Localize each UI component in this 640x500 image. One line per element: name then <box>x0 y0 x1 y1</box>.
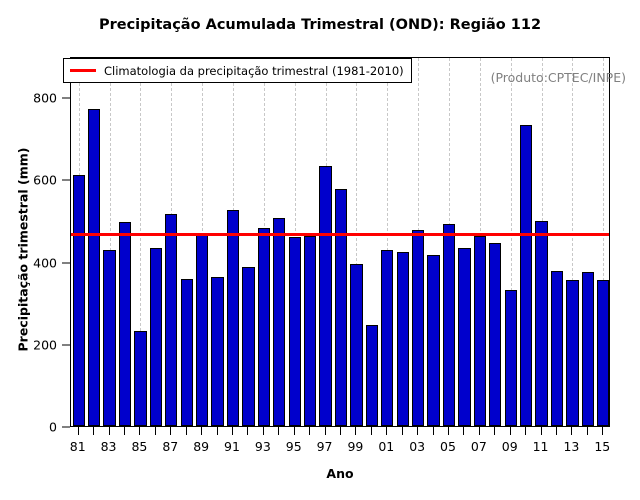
y-axis-title: Precipitação trimestral (mm) <box>16 135 31 365</box>
bars-layer <box>71 58 609 426</box>
chart-title: Precipitação Acumulada Trimestral (OND):… <box>0 17 640 33</box>
x-tick-mark <box>278 427 279 435</box>
x-tick-label: 15 <box>594 439 610 454</box>
x-tick-label: 09 <box>502 439 518 454</box>
bar <box>134 331 146 426</box>
y-tick-label: 800 <box>33 91 57 106</box>
x-tick-mark <box>386 427 387 435</box>
y-tick-label: 600 <box>33 173 57 188</box>
bar <box>150 248 162 426</box>
bar <box>381 250 393 426</box>
x-tick-label: 99 <box>347 439 363 454</box>
bar <box>366 325 378 426</box>
x-tick-mark <box>170 427 171 435</box>
x-tick-mark <box>201 427 202 435</box>
precipitation-bar-chart: Precipitação Acumulada Trimestral (OND):… <box>0 0 640 500</box>
bar <box>73 175 85 426</box>
x-tick-mark <box>232 427 233 435</box>
x-tick-mark <box>294 427 295 435</box>
x-tick-mark <box>186 427 187 435</box>
bar <box>273 218 285 426</box>
bar <box>196 235 208 426</box>
bar <box>458 248 470 426</box>
bar <box>242 267 254 426</box>
bar <box>335 189 347 426</box>
bar <box>227 210 239 426</box>
x-tick-mark <box>124 427 125 435</box>
x-axis-title: Ano <box>70 466 610 481</box>
x-tick-mark <box>93 427 94 435</box>
bar <box>319 166 331 426</box>
x-tick-mark <box>448 427 449 435</box>
x-tick-label: 97 <box>317 439 333 454</box>
x-tick-mark <box>463 427 464 435</box>
bar <box>181 279 193 426</box>
x-tick-mark <box>556 427 557 435</box>
y-tick-mark <box>62 98 70 99</box>
legend-line-swatch <box>70 69 96 72</box>
bar <box>535 221 547 426</box>
y-tick-mark <box>62 180 70 181</box>
x-tick-mark <box>541 427 542 435</box>
bar <box>165 214 177 426</box>
bar <box>211 277 223 426</box>
x-tick-label: 93 <box>255 439 271 454</box>
x-tick-label: 85 <box>131 439 147 454</box>
x-tick-mark <box>494 427 495 435</box>
bar <box>520 125 532 426</box>
x-tick-mark <box>510 427 511 435</box>
y-tick-label: 0 <box>49 420 57 435</box>
bar <box>350 264 362 426</box>
x-tick-label: 05 <box>440 439 456 454</box>
y-tick-label: 400 <box>33 255 57 270</box>
x-tick-mark <box>417 427 418 435</box>
x-tick-label: 89 <box>193 439 209 454</box>
bar <box>597 280 609 426</box>
x-tick-label: 81 <box>70 439 86 454</box>
x-tick-label: 01 <box>378 439 394 454</box>
x-tick-mark <box>217 427 218 435</box>
bar <box>88 109 100 426</box>
climatology-reference-line <box>71 233 609 236</box>
x-tick-mark <box>139 427 140 435</box>
y-tick-mark <box>62 262 70 263</box>
bar <box>119 222 131 426</box>
x-tick-label: 95 <box>286 439 302 454</box>
x-tick-mark <box>433 427 434 435</box>
x-tick-mark <box>109 427 110 435</box>
y-axis: Precipitação trimestral (mm) 02004006008… <box>0 0 70 500</box>
x-tick-label: 11 <box>533 439 549 454</box>
y-tick-mark <box>62 427 70 428</box>
bar <box>505 290 517 426</box>
x-tick-label: 83 <box>101 439 117 454</box>
x-tick-label: 91 <box>224 439 240 454</box>
x-tick-label: 13 <box>563 439 579 454</box>
bar <box>566 280 578 426</box>
bar <box>258 228 270 426</box>
y-tick-mark <box>62 344 70 345</box>
bar <box>582 272 594 426</box>
bar <box>103 250 115 426</box>
x-tick-mark <box>402 427 403 435</box>
x-tick-mark <box>525 427 526 435</box>
legend: Climatologia da precipitação trimestral … <box>63 58 412 83</box>
bar <box>397 252 409 426</box>
bar <box>474 236 486 426</box>
x-tick-label: 03 <box>409 439 425 454</box>
bar <box>551 271 563 426</box>
source-annotation: (Produto:CPTEC/INPE) <box>491 70 626 85</box>
y-tick-label: 200 <box>33 337 57 352</box>
x-tick-mark <box>479 427 480 435</box>
x-axis: 818385878991939597990103050709111315 <box>70 427 610 467</box>
x-tick-label: 87 <box>162 439 178 454</box>
x-tick-mark <box>371 427 372 435</box>
x-tick-mark <box>263 427 264 435</box>
bar <box>443 224 455 426</box>
x-tick-mark <box>602 427 603 435</box>
x-tick-mark <box>155 427 156 435</box>
x-tick-mark <box>571 427 572 435</box>
x-tick-mark <box>325 427 326 435</box>
bar <box>304 236 316 426</box>
legend-entry-label: Climatologia da precipitação trimestral … <box>104 64 404 78</box>
bar <box>489 243 501 426</box>
bar <box>412 230 424 427</box>
x-tick-label: 07 <box>471 439 487 454</box>
x-tick-mark <box>587 427 588 435</box>
x-tick-mark <box>78 427 79 435</box>
plot-area <box>70 57 610 427</box>
bar <box>427 255 439 426</box>
bar <box>289 237 301 426</box>
x-tick-mark <box>355 427 356 435</box>
x-tick-mark <box>309 427 310 435</box>
x-tick-mark <box>247 427 248 435</box>
x-tick-mark <box>340 427 341 435</box>
